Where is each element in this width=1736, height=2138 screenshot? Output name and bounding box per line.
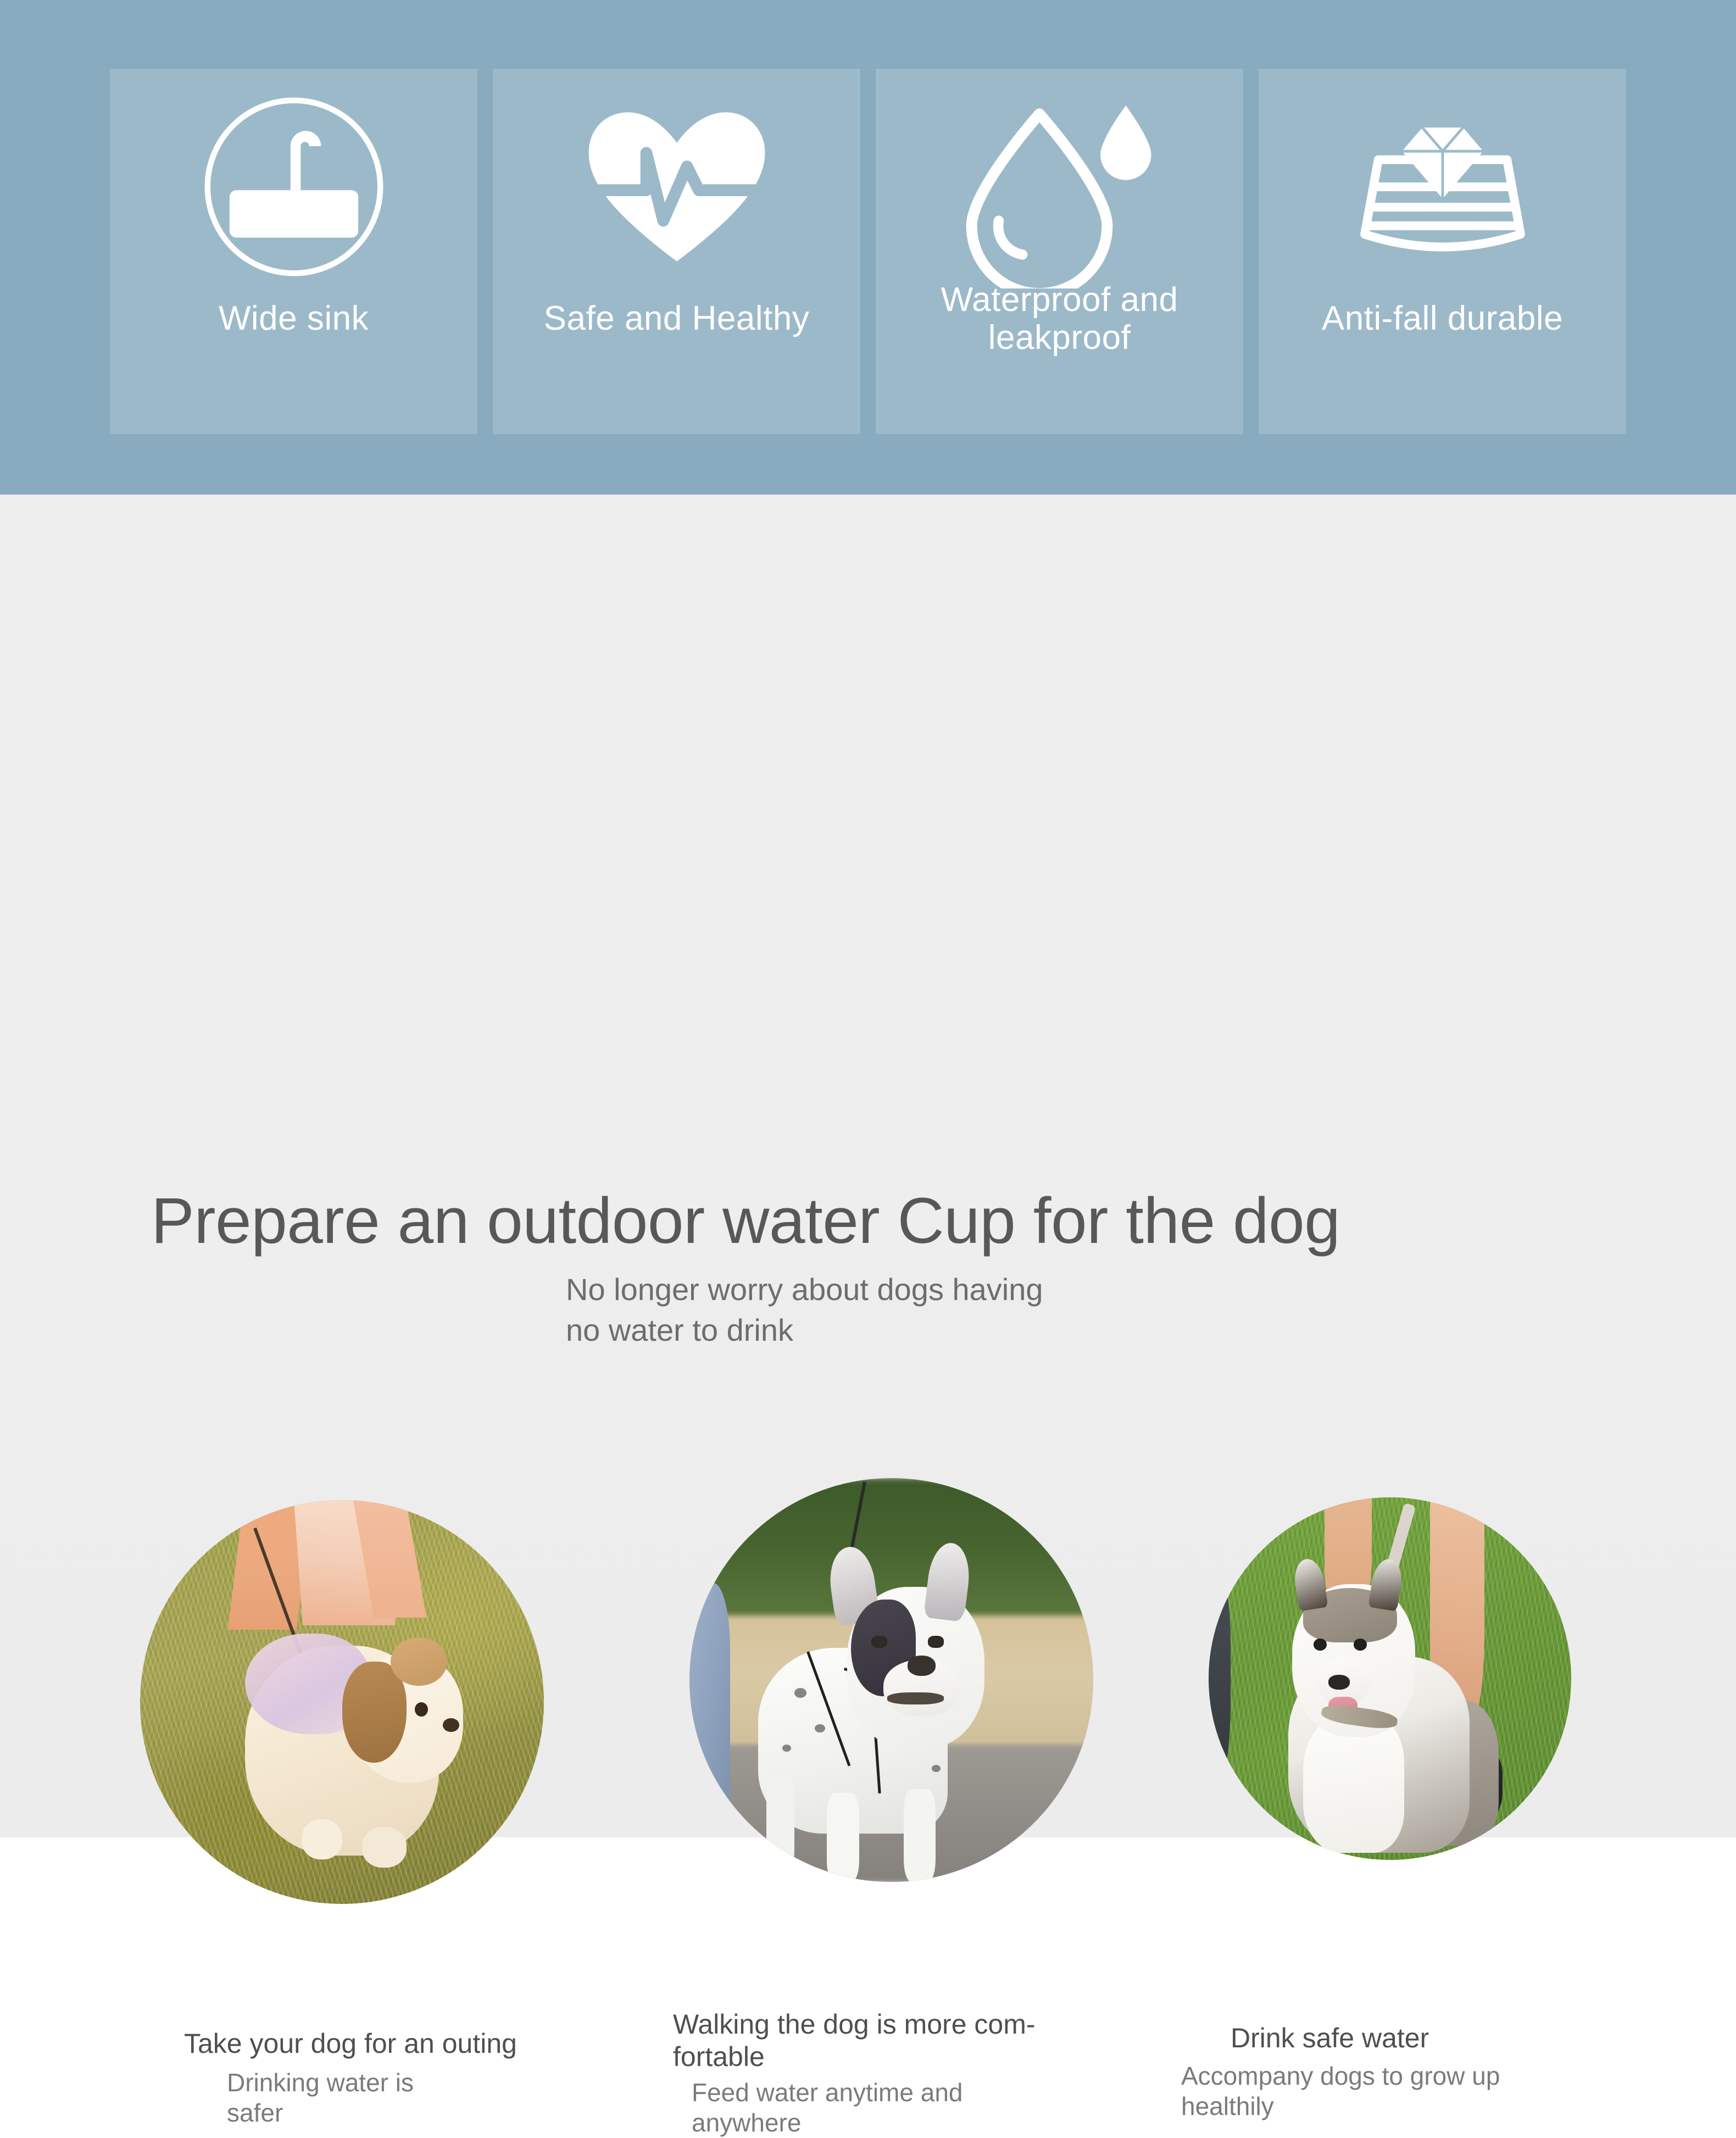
caption-safe-water-sub-line1: Accompany dogs to grow up: [1181, 2061, 1599, 2091]
caption-comfortable-sub-line1: Feed water anytime and: [692, 2078, 1123, 2108]
caption-outing-main: Take your dog for an outing: [184, 2028, 602, 2060]
benefit-card-comfortable[interactable]: Walking the dog is more com- fortable Fe…: [689, 1478, 1093, 1882]
caption-outing-sub: Drinking water is safer: [227, 2068, 602, 2128]
feature-card-waterproof[interactable]: Waterproof and leakproof: [876, 69, 1243, 434]
caption-safe-water: Drink safe water Accompany dogs to grow …: [1181, 2022, 1599, 2122]
main-content-section: Prepare an outdoor water Cup for the dog…: [0, 495, 1736, 1837]
feature-card-wide-sink[interactable]: Wide sink: [110, 69, 477, 434]
page-subtitle-line1: No longer worry about dogs having: [566, 1269, 1043, 1310]
benefit-card-outing[interactable]: Take your dog for an outing Drinking wat…: [140, 1500, 544, 1904]
page-subtitle-line2: no water to drink: [566, 1310, 1043, 1351]
benefit-card-safe-water[interactable]: Drink safe water Accompany dogs to grow …: [1209, 1497, 1571, 1860]
feature-label-waterproof-line1: Waterproof and: [881, 281, 1238, 319]
photo-scene: [140, 1500, 544, 1904]
feature-label-safe-healthy: Safe and Healthy: [493, 299, 860, 337]
caption-safe-water-sub: Accompany dogs to grow up healthily: [1181, 2061, 1599, 2122]
sink-icon: [110, 69, 477, 299]
caption-outing: Take your dog for an outing Drinking wat…: [184, 2028, 602, 2128]
feature-banner: Wide sink Safe and Healthy: [0, 0, 1736, 495]
caption-safe-water-sub-line2: healthily: [1181, 2091, 1599, 2122]
caption-outing-sub-line1: Drinking water is: [227, 2068, 602, 2098]
photo-small-dog-outing: [140, 1500, 544, 1904]
caption-comfortable: Walking the dog is more com- fortable Fe…: [673, 2008, 1123, 2138]
benefit-card-row: Take your dog for an outing Drinking wat…: [0, 1484, 1736, 2088]
feature-label-wide-sink: Wide sink: [110, 299, 477, 337]
feature-label-waterproof: Waterproof and leakproof: [876, 281, 1243, 357]
feature-label-waterproof-line2: leakproof: [881, 319, 1238, 357]
diamond-durability-icon: [1259, 69, 1626, 299]
page-subtitle: No longer worry about dogs having no wat…: [566, 1269, 1043, 1351]
caption-comfortable-main: Walking the dog is more com- fortable: [673, 2008, 1123, 2073]
caption-safe-water-main: Drink safe water: [1231, 2022, 1599, 2054]
photo-scene: [1209, 1497, 1571, 1860]
page-title: Prepare an outdoor water Cup for the dog: [151, 1184, 1340, 1258]
photo-husky: [1209, 1497, 1571, 1860]
photo-french-bulldog: [689, 1478, 1093, 1882]
caption-comfortable-sub: Feed water anytime and anywhere: [692, 2078, 1123, 2138]
water-drop-icon: [876, 69, 1243, 299]
caption-outing-sub-line2: safer: [227, 2098, 602, 2128]
caption-comfortable-sub-line2: anywhere: [692, 2108, 1123, 2138]
feature-card-safe-healthy[interactable]: Safe and Healthy: [493, 69, 860, 434]
heartbeat-icon: [493, 69, 860, 299]
feature-card-anti-fall[interactable]: Anti-fall durable: [1259, 69, 1626, 434]
caption-comfortable-main-line1: Walking the dog is more com-: [673, 2008, 1123, 2041]
photo-scene: [689, 1478, 1093, 1882]
feature-label-anti-fall: Anti-fall durable: [1259, 299, 1626, 337]
feature-card-strip: Wide sink Safe and Healthy: [110, 69, 1626, 434]
caption-comfortable-main-line2: fortable: [673, 2041, 1123, 2073]
